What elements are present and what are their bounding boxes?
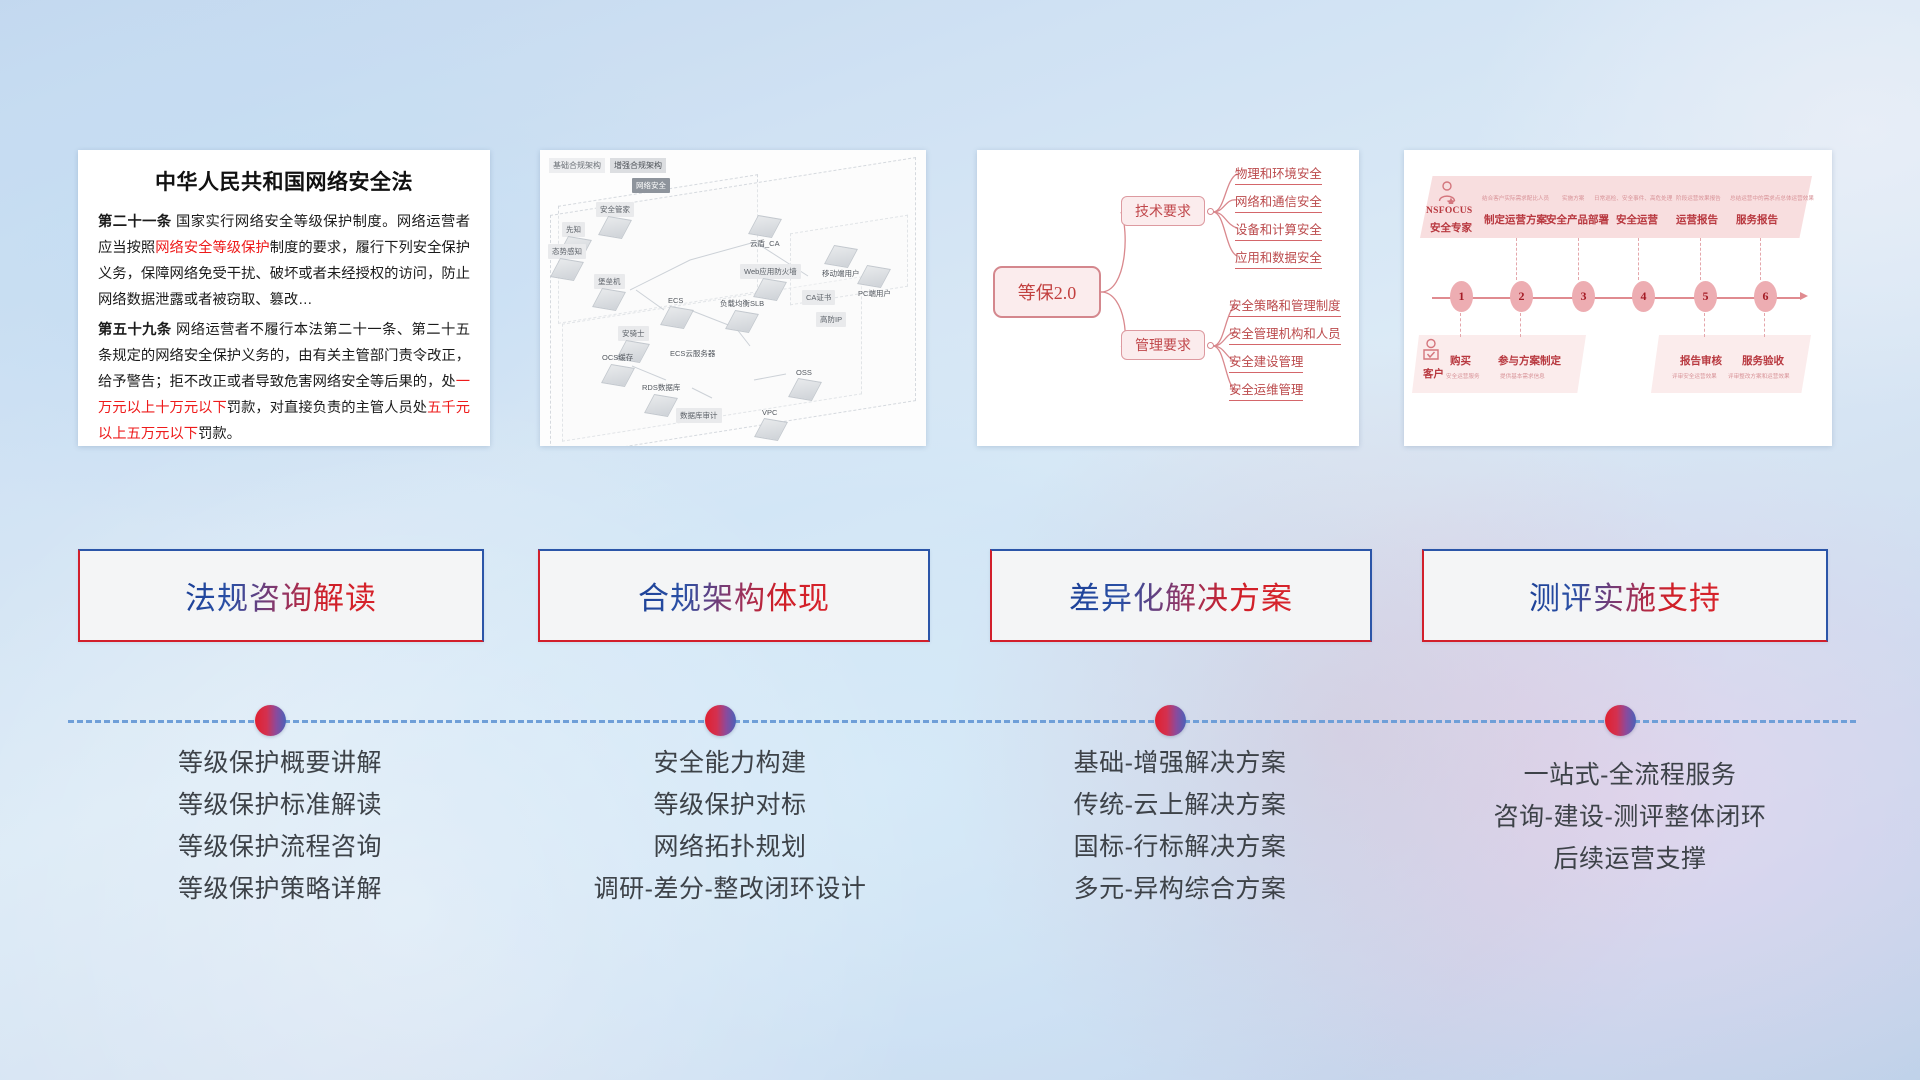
mindmap-leaf-device-compute: 设备和计算安全 — [1235, 220, 1322, 241]
arch-node-wangluoanquan: 网络安全 — [632, 178, 670, 193]
list-item: 多元-异构综合方案 — [960, 868, 1400, 910]
list-item: 等级保护概要讲解 — [60, 742, 500, 784]
list-item: 调研-差分-整改闭环设计 — [510, 868, 950, 910]
title-box-differentiated-solution[interactable]: 差异化解决方案 — [990, 549, 1372, 642]
arch-node-ecs-cluster: ECS云服务器 — [666, 346, 719, 361]
timeline-marker-4[interactable] — [1605, 705, 1636, 736]
nsfocus-bottom-main-3: 报告审核 — [1680, 353, 1722, 368]
list-item: 基础-增强解决方案 — [960, 742, 1400, 784]
arch-node-ecs: ECS — [664, 294, 690, 327]
title-label: 法规咨询解读 — [185, 573, 377, 618]
cube-icon — [592, 288, 626, 311]
arch-node-anti-ddos-ip: 高防IP — [816, 312, 846, 327]
nsfocus-top-main-4: 运营报告 — [1676, 212, 1718, 227]
law-paragraph-21: 第二十一条 国家实行网络安全等级保护制度。网络运营者应当按照网络安全等级保护制度… — [98, 209, 470, 313]
timeline-step-2[interactable]: 2 — [1510, 281, 1533, 312]
detail-list-regulation-consulting: 等级保护概要讲解 等级保护标准解读 等级保护流程咨询 等级保护策略详解 — [60, 742, 500, 910]
title-box-regulation-consulting[interactable]: 法规咨询解读 — [78, 549, 484, 642]
timeline-marker-1[interactable] — [255, 705, 286, 736]
nsfocus-top-main-2: 安全产品部署 — [1546, 212, 1609, 227]
nsfocus-expert-band — [1420, 176, 1812, 238]
arch-node-ocs-cache: OCS缓存 — [598, 350, 637, 385]
arch-node-label: 负载均衡SLB — [716, 296, 768, 311]
cube-icon — [857, 265, 891, 288]
customer-person-icon — [1420, 338, 1442, 364]
mindmap-branch-management[interactable]: 管理要求 — [1121, 330, 1205, 360]
preview-card-row: 中华人民共和国网络安全法 第二十一条 国家实行网络安全等级保护制度。网络运营者应… — [0, 150, 1920, 446]
timeline-connector — [1516, 238, 1517, 280]
timeline-arrow-icon — [1800, 292, 1808, 300]
arch-node-label: 堡垒机 — [594, 274, 625, 289]
timeline-step-1[interactable]: 1 — [1450, 281, 1473, 312]
title-box-compliance-architecture[interactable]: 合规架构体现 — [538, 549, 930, 642]
nsfocus-top-sub-1: 结合客户实际需求配比人员 — [1482, 194, 1549, 202]
timeline-connector — [1764, 313, 1765, 337]
arch-node-db-audit: 数据库审计 — [676, 408, 722, 423]
nsfocus-bottom-sub-1: 安全运营服务 — [1446, 372, 1480, 380]
arch-node-slb: 负载均衡SLB — [716, 296, 768, 331]
timeline-step-6[interactable]: 6 — [1754, 281, 1777, 312]
timeline-connector — [1760, 238, 1761, 280]
mindmap-leaf-app-data: 应用和数据安全 — [1235, 248, 1322, 269]
arch-node-yundun-ca: 云盾_CA — [746, 216, 784, 251]
law-run-59-4: 罚款。 — [198, 426, 241, 442]
arch-node-label: ECS云服务器 — [666, 346, 719, 361]
arch-node-label: 网络安全 — [632, 178, 670, 193]
arch-node-ca-cert: CA证书 — [802, 290, 835, 305]
section-title-row: 法规咨询解读 合规架构体现 差异化解决方案 测评实施支持 — [0, 549, 1920, 649]
nsfocus-bottom-main-1: 购买 — [1450, 353, 1471, 368]
nsfocus-top-sub-3: 日常巡检、安全事件、高危处理 — [1594, 194, 1672, 202]
arch-node-label: CA证书 — [802, 290, 835, 305]
list-item: 等级保护对标 — [510, 784, 950, 826]
arch-node-label: RDS数据库 — [638, 380, 684, 395]
arch-node-anquanguanjia: 安全管家 — [596, 202, 634, 237]
timeline-connector — [1578, 238, 1579, 280]
law-article-label-21: 第二十一条 — [98, 214, 172, 230]
cube-icon — [660, 306, 694, 329]
mindmap: 等保2.0 技术要求 物理和环境安全 网络和通信安全 设备和计算安全 应用和数据… — [977, 150, 1359, 446]
card-djcp-mindmap[interactable]: 等保2.0 技术要求 物理和环境安全 网络和通信安全 设备和计算安全 应用和数据… — [977, 150, 1359, 446]
timeline-connector — [1638, 238, 1639, 280]
list-item: 等级保护流程咨询 — [60, 826, 500, 868]
list-item: 网络拓扑规划 — [510, 826, 950, 868]
cube-icon — [601, 364, 635, 387]
timeline-step-3[interactable]: 3 — [1572, 281, 1595, 312]
arch-node-waf: Web应用防火墙 — [740, 264, 801, 299]
arch-node-baoleiji: 堡垒机 — [594, 274, 625, 309]
arch-node-label: 数据库审计 — [676, 408, 722, 423]
timeline-connector — [1700, 238, 1701, 280]
list-item: 安全能力构建 — [510, 742, 950, 784]
mindmap-leaf-build-mgmt: 安全建设管理 — [1229, 352, 1303, 373]
detail-list-compliance-architecture: 安全能力构建 等级保护对标 网络拓扑规划 调研-差分-整改闭环设计 — [510, 742, 950, 910]
nsfocus-top-sub-5: 总结运营中的需求点总体运营效果 — [1730, 194, 1814, 202]
mindmap-leaf-org-personnel: 安全管理机构和人员 — [1229, 324, 1341, 345]
nsfocus-brand-label: NSFOCUS — [1426, 206, 1472, 216]
list-item: 国标-行标解决方案 — [960, 826, 1400, 868]
arch-node-pc-user: PC端用户 — [854, 266, 895, 301]
cube-icon — [550, 258, 584, 281]
arch-node-label: ECS — [664, 294, 687, 307]
timeline-step-5[interactable]: 5 — [1694, 281, 1717, 312]
mindmap-leaf-ops-mgmt: 安全运维管理 — [1229, 380, 1303, 401]
nsfocus-expert-label: 安全专家 — [1430, 220, 1472, 235]
timeline-dashed-line — [68, 720, 1856, 723]
arch-node-label: 安全管家 — [596, 202, 634, 217]
detail-list-row: 等级保护概要讲解 等级保护标准解读 等级保护流程咨询 等级保护策略详解 安全能力… — [0, 742, 1920, 982]
mindmap-leaf-policy-system: 安全策略和管理制度 — [1229, 296, 1341, 317]
title-label: 合规架构体现 — [638, 573, 830, 618]
mindmap-root-node[interactable]: 等保2.0 — [993, 266, 1101, 318]
mindmap-leaf-physical-env: 物理和环境安全 — [1235, 164, 1322, 185]
card-nsfocus-service-timeline[interactable]: NSFOCUS 安全专家 客户 1 2 3 4 5 6 — [1404, 150, 1832, 446]
mindmap-leaf-network-comm: 网络和通信安全 — [1235, 192, 1322, 213]
card-cybersecurity-law[interactable]: 中华人民共和国网络安全法 第二十一条 国家实行网络安全等级保护制度。网络运营者应… — [78, 150, 490, 446]
nsfocus-timeline: NSFOCUS 安全专家 客户 1 2 3 4 5 6 — [1404, 150, 1832, 446]
nsfocus-customer-band-right — [1651, 335, 1811, 393]
list-item: 等级保护标准解读 — [60, 784, 500, 826]
nsfocus-top-main-1: 制定运营方案 — [1484, 212, 1547, 227]
nsfocus-bottom-sub-3: 评审安全运营效果 — [1672, 372, 1717, 380]
timeline-marker-2[interactable] — [705, 705, 736, 736]
arch-node-label: 先知 — [562, 222, 585, 237]
timeline-connector — [1520, 313, 1521, 337]
law-content: 中华人民共和国网络安全法 第二十一条 国家实行网络安全等级保护制度。网络运营者应… — [78, 150, 490, 446]
timeline-axis — [1432, 297, 1802, 299]
nsfocus-bottom-main-4: 服务验收 — [1742, 353, 1784, 368]
timeline-marker-3[interactable] — [1155, 705, 1186, 736]
timeline-connector — [1704, 313, 1705, 337]
nsfocus-bottom-sub-2: 提供基本需求信息 — [1500, 372, 1545, 380]
mindmap-collapse-icon[interactable] — [1207, 342, 1214, 349]
arch-node-vpc: VPC — [758, 406, 784, 439]
title-box-assessment-support[interactable]: 测评实施支持 — [1422, 549, 1828, 642]
cube-icon — [824, 245, 858, 268]
cube-icon — [598, 216, 632, 239]
timeline-connector — [1460, 313, 1461, 337]
law-article-label-59: 第五十九条 — [98, 322, 172, 338]
list-item: 后续运营支撑 — [1410, 838, 1850, 880]
law-title: 中华人民共和国网络安全法 — [98, 166, 470, 196]
mindmap-branch-technical[interactable]: 技术要求 — [1121, 196, 1205, 226]
list-item: 等级保护策略详解 — [60, 868, 500, 910]
arch-node-taishiganzhi: 态势感知 — [548, 244, 586, 279]
nsfocus-bottom-sub-4: 评审整改方案和运营效果 — [1728, 372, 1790, 380]
list-item: 传统-云上解决方案 — [960, 784, 1400, 826]
mindmap-collapse-icon[interactable] — [1207, 208, 1214, 215]
title-label: 差异化解决方案 — [1069, 573, 1293, 618]
list-item: 一站式-全流程服务 — [1410, 754, 1850, 796]
arch-node-label: 云盾_CA — [746, 236, 784, 251]
list-item: 咨询-建设-测评整体闭环 — [1410, 796, 1850, 838]
cube-icon — [644, 394, 678, 417]
progress-timeline — [0, 698, 1920, 748]
nsfocus-top-main-5: 服务报告 — [1736, 212, 1778, 227]
nsfocus-customer-label: 客户 — [1423, 366, 1444, 381]
card-compliance-architecture[interactable]: 基础合规架构 增强合规架构 — [540, 150, 926, 446]
cube-icon — [748, 215, 782, 238]
arch-node-label: VPC — [758, 406, 781, 419]
architecture-diagram: 基础合规架构 增强合规架构 — [540, 150, 926, 446]
arch-node-label: Web应用防火墙 — [740, 264, 801, 279]
arch-node-oss: OSS — [792, 366, 818, 399]
timeline-step-4[interactable]: 4 — [1632, 281, 1655, 312]
nsfocus-top-main-3: 安全运营 — [1616, 212, 1658, 227]
detail-list-assessment-support: 一站式-全流程服务 咨询-建设-测评整体闭环 后续运营支撑 — [1410, 742, 1850, 880]
law-paragraph-59: 第五十九条 网络运营者不履行本法第二十一条、第二十五条规定的网络安全保护义务的，… — [98, 317, 470, 446]
title-label: 测评实施支持 — [1529, 573, 1721, 618]
arch-node-label: 态势感知 — [548, 244, 586, 259]
nsfocus-top-sub-2: 实施方案 — [1562, 194, 1584, 202]
arch-node-label: 高防IP — [816, 312, 846, 327]
arch-node-label: OCS缓存 — [598, 350, 637, 365]
cube-icon — [754, 418, 788, 441]
nsfocus-bottom-main-2: 参与方案制定 — [1498, 353, 1561, 368]
nsfocus-top-sub-4: 阶段运营效果报告 — [1676, 194, 1721, 202]
arch-node-label: 安骑士 — [618, 326, 649, 341]
law-run-59-2: 罚款，对直接负责的主管人员处 — [227, 400, 427, 416]
law-run-1-highlight: 网络安全等级保护 — [155, 240, 269, 256]
arch-node-label: OSS — [792, 366, 816, 379]
cube-icon — [725, 310, 759, 333]
cube-icon — [788, 378, 822, 401]
arch-node-label: PC端用户 — [854, 286, 895, 301]
detail-list-differentiated-solution: 基础-增强解决方案 传统-云上解决方案 国标-行标解决方案 多元-异构综合方案 — [960, 742, 1400, 910]
expert-person-icon — [1436, 180, 1458, 204]
